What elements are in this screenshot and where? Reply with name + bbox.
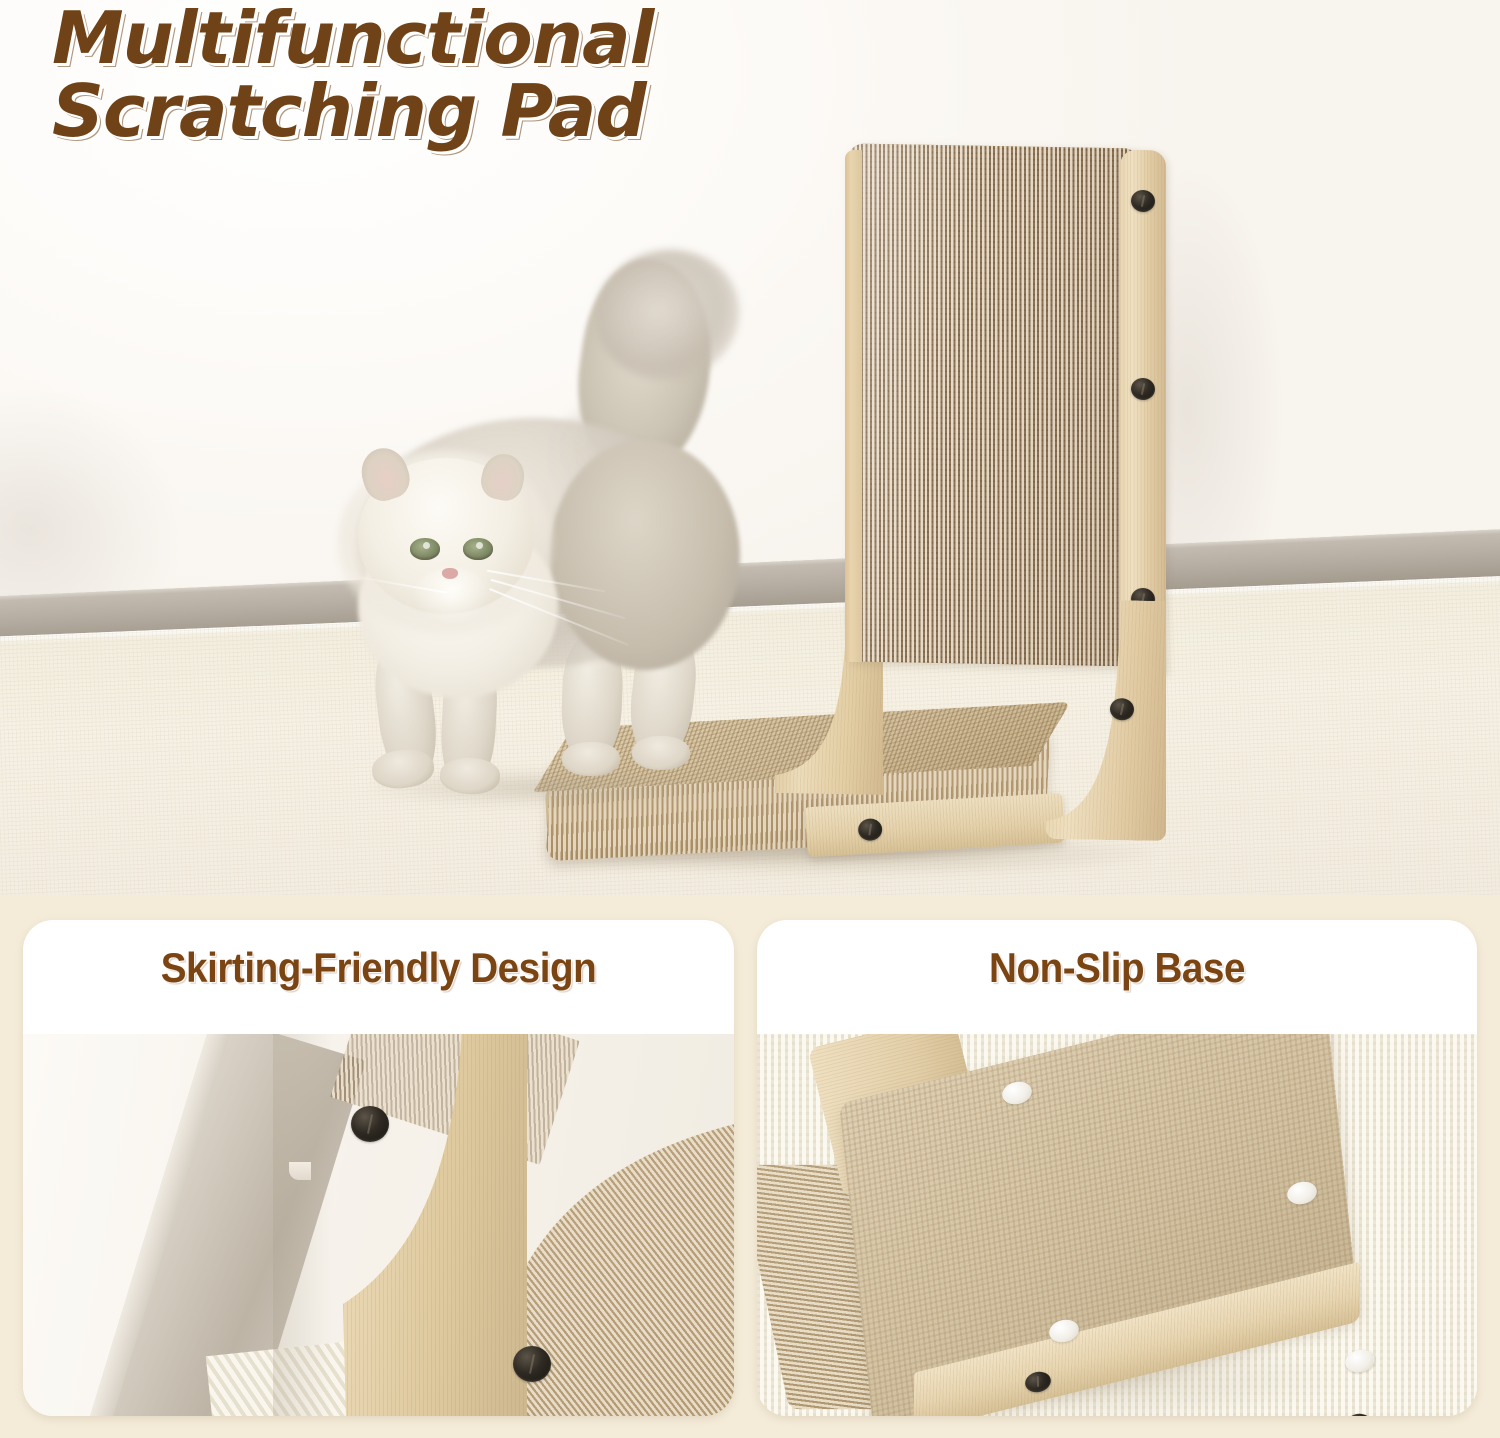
- cat-paw: [562, 742, 620, 776]
- card-title: Non-Slip Base: [786, 944, 1448, 992]
- cat-eye-left: [410, 538, 440, 560]
- card-title: Skirting-Friendly Design: [51, 944, 705, 992]
- hero-image: Multifunctional Scratching Pad: [0, 0, 1500, 895]
- feature-card-skirting-friendly-design[interactable]: Skirting-Friendly Design: [23, 920, 734, 1416]
- card-photo-skirting-friendly: [23, 1034, 734, 1416]
- feature-card-non-slip-base[interactable]: Non-Slip Base: [757, 920, 1477, 1416]
- cat-paw: [632, 736, 690, 770]
- card-photo-non-slip-base: [757, 1034, 1477, 1416]
- cat-nose: [442, 568, 458, 579]
- persian-cat: [250, 250, 770, 850]
- vertical-cardboard-panel: [848, 143, 1140, 666]
- vertical-panel-right-rail: [1120, 150, 1166, 675]
- screw-icon: [1131, 190, 1155, 212]
- screw-icon: [351, 1106, 389, 1142]
- right-curved-wood-shape: [1046, 599, 1166, 841]
- vertical-panel-left-rail: [845, 150, 862, 662]
- screw-icon: [1131, 378, 1155, 400]
- screw-icon: [1110, 698, 1134, 720]
- screw-icon: [513, 1346, 551, 1382]
- cat-paw: [439, 757, 500, 795]
- cat-eye-right: [463, 538, 493, 560]
- feature-cards-row: Skirting-Friendly Design Non-Slip Base: [0, 898, 1500, 1438]
- skirting-notch-cutout: [289, 1162, 311, 1180]
- corrugated-shading: [848, 143, 1140, 666]
- screw-icon: [858, 818, 883, 841]
- right-curved-wood-side: [1046, 599, 1166, 841]
- closeup-wall-shadow: [273, 1034, 333, 1416]
- page-title: Multifunctional Scratching Pad: [52, 2, 832, 149]
